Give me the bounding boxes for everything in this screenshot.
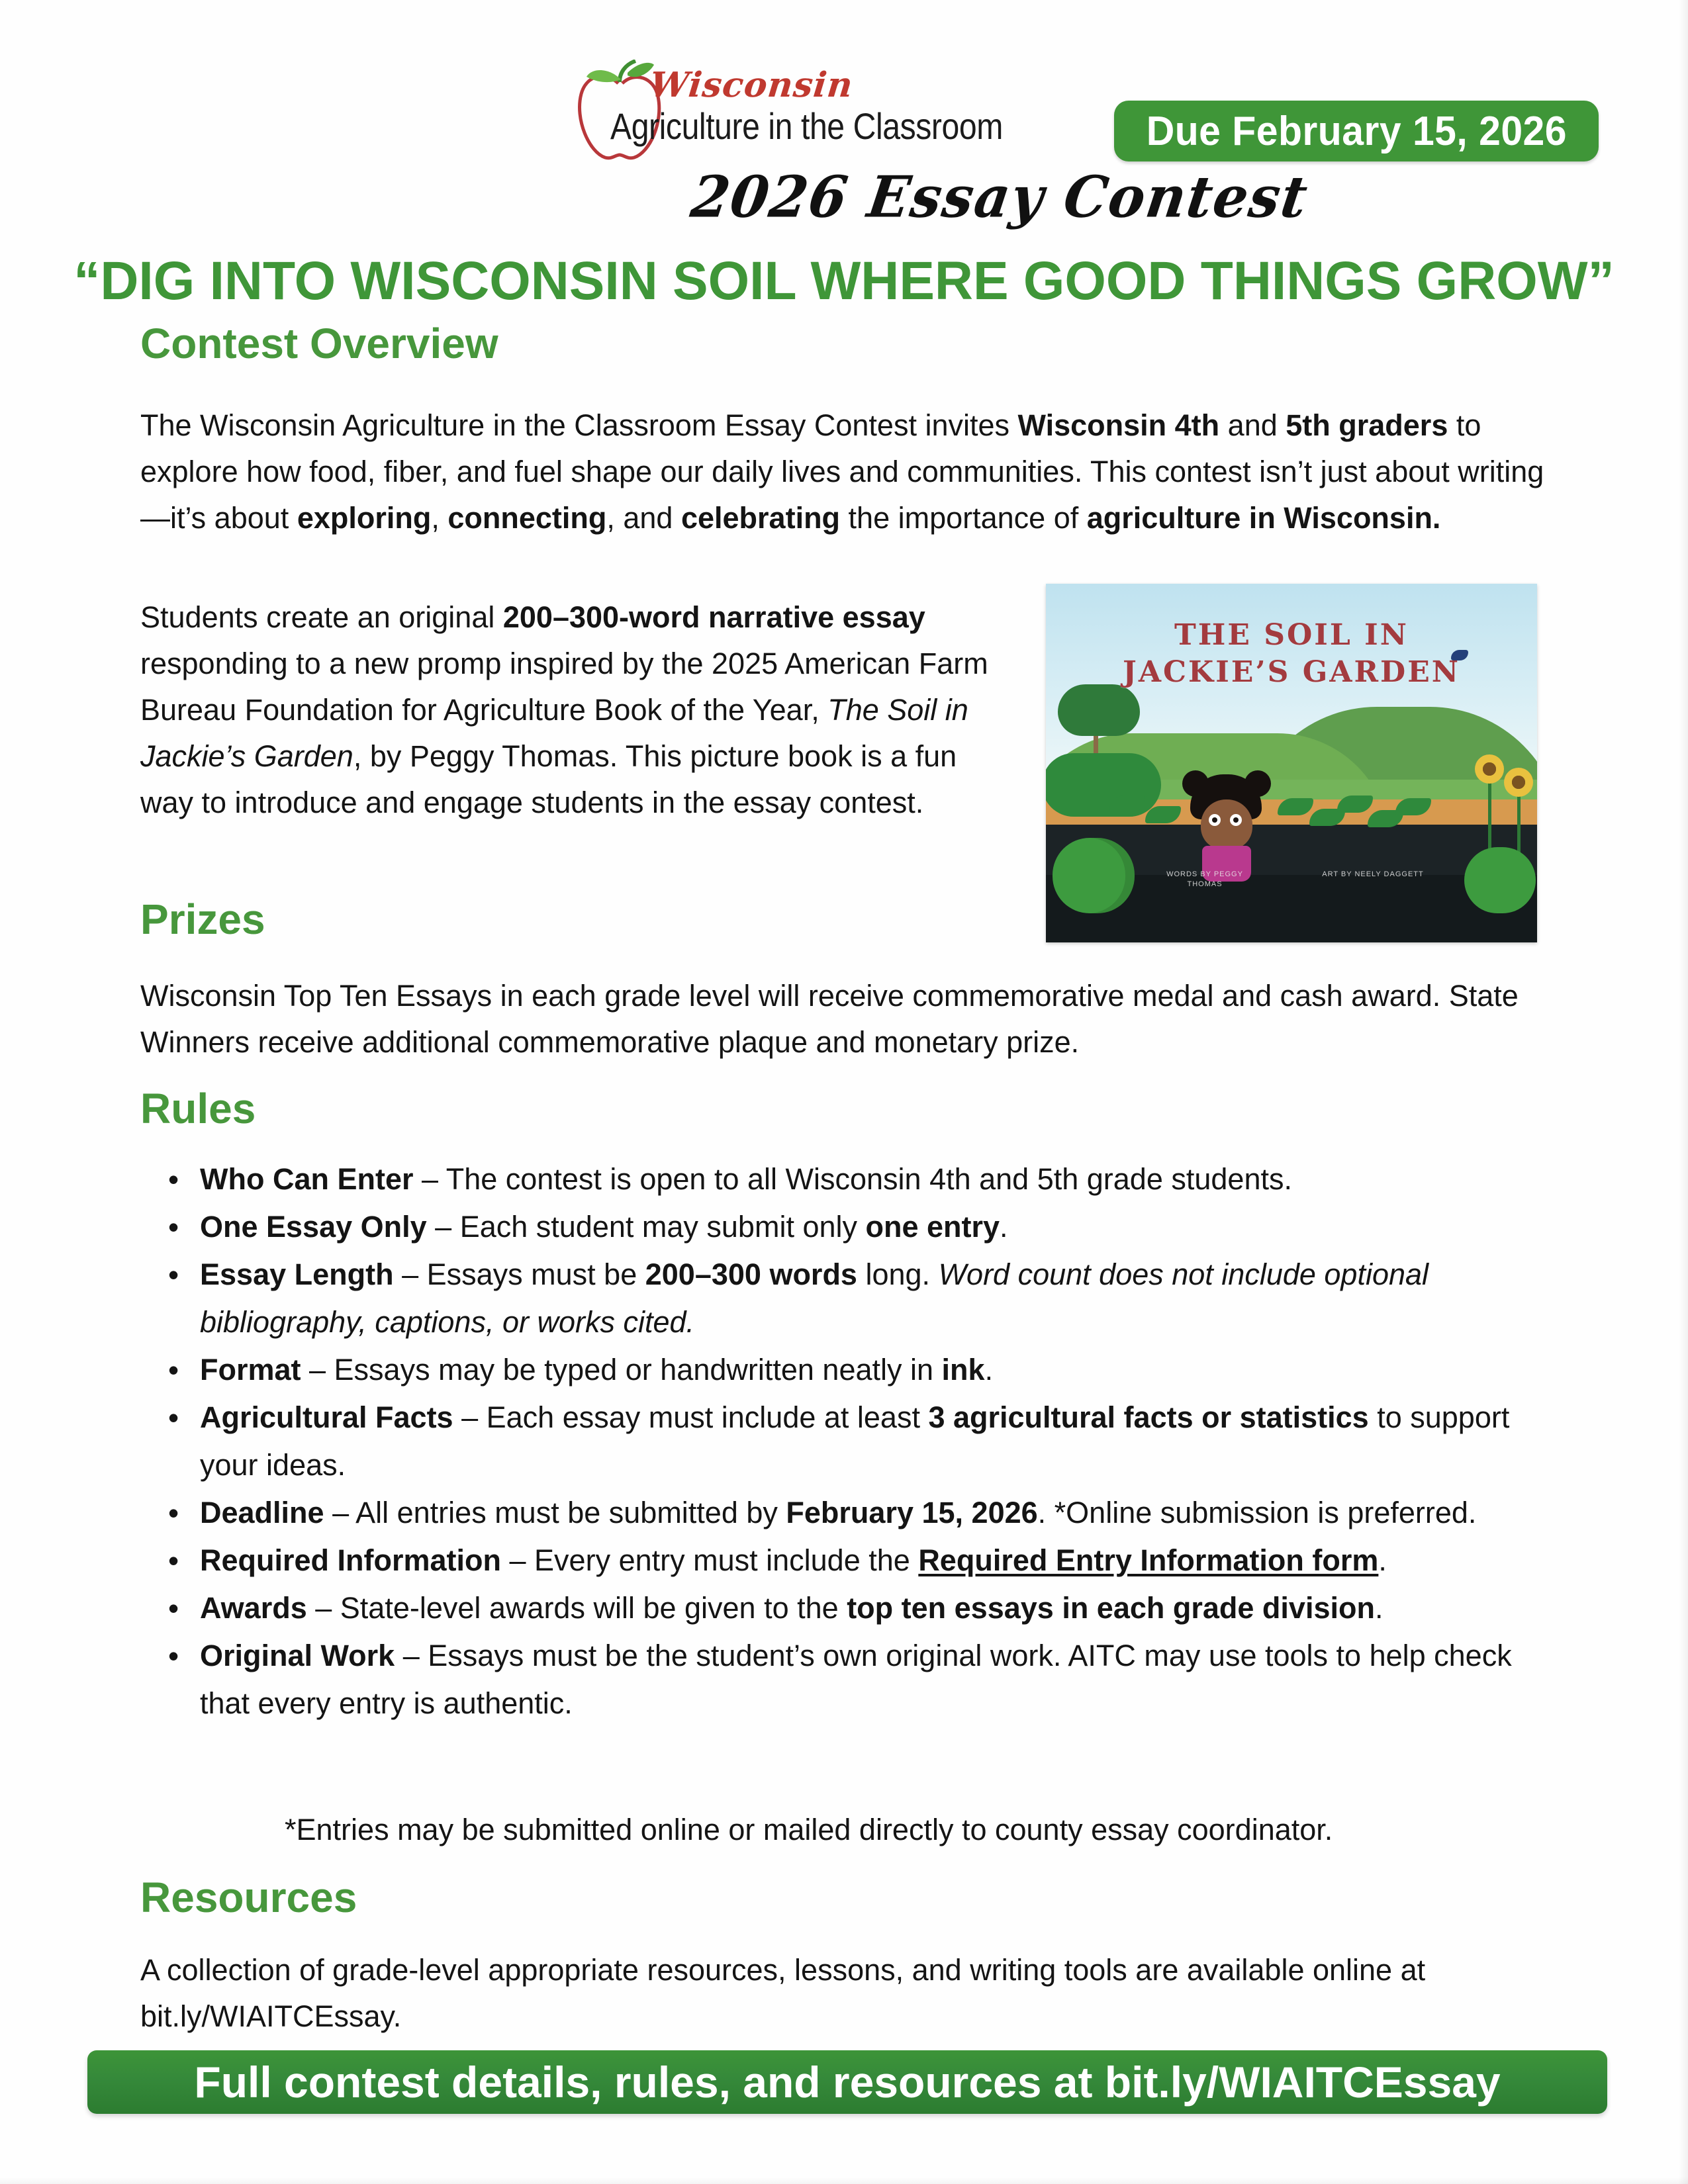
rule-item: Format – Essays may be typed or handwrit…	[140, 1346, 1561, 1394]
scan-edge-bottom	[0, 2177, 1688, 2184]
overview-paragraph-2: Students create an original 200–300-word…	[140, 594, 1008, 826]
logo-aitc-text: Agriculture in the Classroom	[610, 105, 1003, 148]
book-cover-image: THE SOIL IN JACKIE’S GARDEN WORDS BY PEG…	[1046, 584, 1537, 942]
resources-paragraph: A collection of grade-level appropriate …	[140, 1947, 1561, 2040]
rule-item: Essay Length – Essays must be 200–300 wo…	[140, 1251, 1561, 1346]
book-girl-eye-left	[1209, 814, 1221, 826]
rules-list: Who Can Enter – The contest is open to a…	[140, 1156, 1561, 1727]
footer-cta-label: Full contest details, rules, and resourc…	[194, 2057, 1500, 2107]
scan-edge-right	[1679, 0, 1688, 2184]
rule-item: Who Can Enter – The contest is open to a…	[140, 1156, 1561, 1203]
book-sunflower-1	[1475, 754, 1504, 784]
section-heading-rules: Rules	[140, 1084, 256, 1133]
book-girl-face	[1201, 799, 1252, 850]
rule-item: Required Information – Every entry must …	[140, 1537, 1561, 1584]
flyer-header: Wisconsin Agriculture in the Classroom 2…	[0, 0, 1688, 251]
section-heading-prizes: Prizes	[140, 895, 265, 944]
book-title-line-1: THE SOIL IN	[1046, 618, 1537, 652]
rules-footnote: *Entries may be submitted online or mail…	[285, 1807, 1562, 1853]
book-watermelon-left	[1053, 838, 1135, 913]
book-title-line-2: JACKIE’S GARDEN	[1046, 655, 1537, 689]
overview-paragraph-1: The Wisconsin Agriculture in the Classro…	[140, 402, 1561, 541]
essay-contest-script-title: 2026 Essay Contest	[687, 164, 1313, 231]
section-heading-resources: Resources	[140, 1873, 357, 1922]
book-girl-eye-right	[1230, 814, 1242, 826]
book-credit-art: ART BY NEELY DAGGETT	[1320, 870, 1426, 880]
rule-item: Awards – State-level awards will be give…	[140, 1584, 1561, 1632]
page-title: “DIG INTO WISCONSIN SOIL WHERE GOOD THIN…	[17, 250, 1671, 312]
book-plant-row	[1046, 794, 1537, 841]
rule-item: One Essay Only – Each student may submit…	[140, 1203, 1561, 1251]
logo-wisconsin-text: Wisconsin	[648, 65, 855, 105]
footer-cta-banner[interactable]: Full contest details, rules, and resourc…	[87, 2050, 1607, 2114]
book-sunflower-2	[1504, 768, 1533, 797]
due-date-badge: Due February 15, 2026	[1114, 101, 1599, 161]
section-heading-overview: Contest Overview	[140, 319, 498, 368]
aitc-logo: Wisconsin Agriculture in the Classroom	[569, 48, 993, 180]
rule-item: Original Work – Essays must be the stude…	[140, 1632, 1561, 1727]
flyer-page: Wisconsin Agriculture in the Classroom 2…	[0, 0, 1688, 2184]
book-sunflower-stem-2	[1517, 793, 1521, 855]
prizes-paragraph: Wisconsin Top Ten Essays in each grade l…	[140, 973, 1561, 1066]
rule-item: Deadline – All entries must be submitted…	[140, 1489, 1561, 1537]
book-tree-crown	[1058, 684, 1140, 736]
due-date-label: Due February 15, 2026	[1146, 108, 1566, 155]
book-sunflower-stem-1	[1488, 780, 1491, 856]
rule-item: Agricultural Facts – Each essay must inc…	[140, 1394, 1561, 1489]
book-credit-words: WORDS BY PEGGY THOMAS	[1152, 870, 1258, 889]
book-watermelon-right	[1464, 847, 1536, 913]
